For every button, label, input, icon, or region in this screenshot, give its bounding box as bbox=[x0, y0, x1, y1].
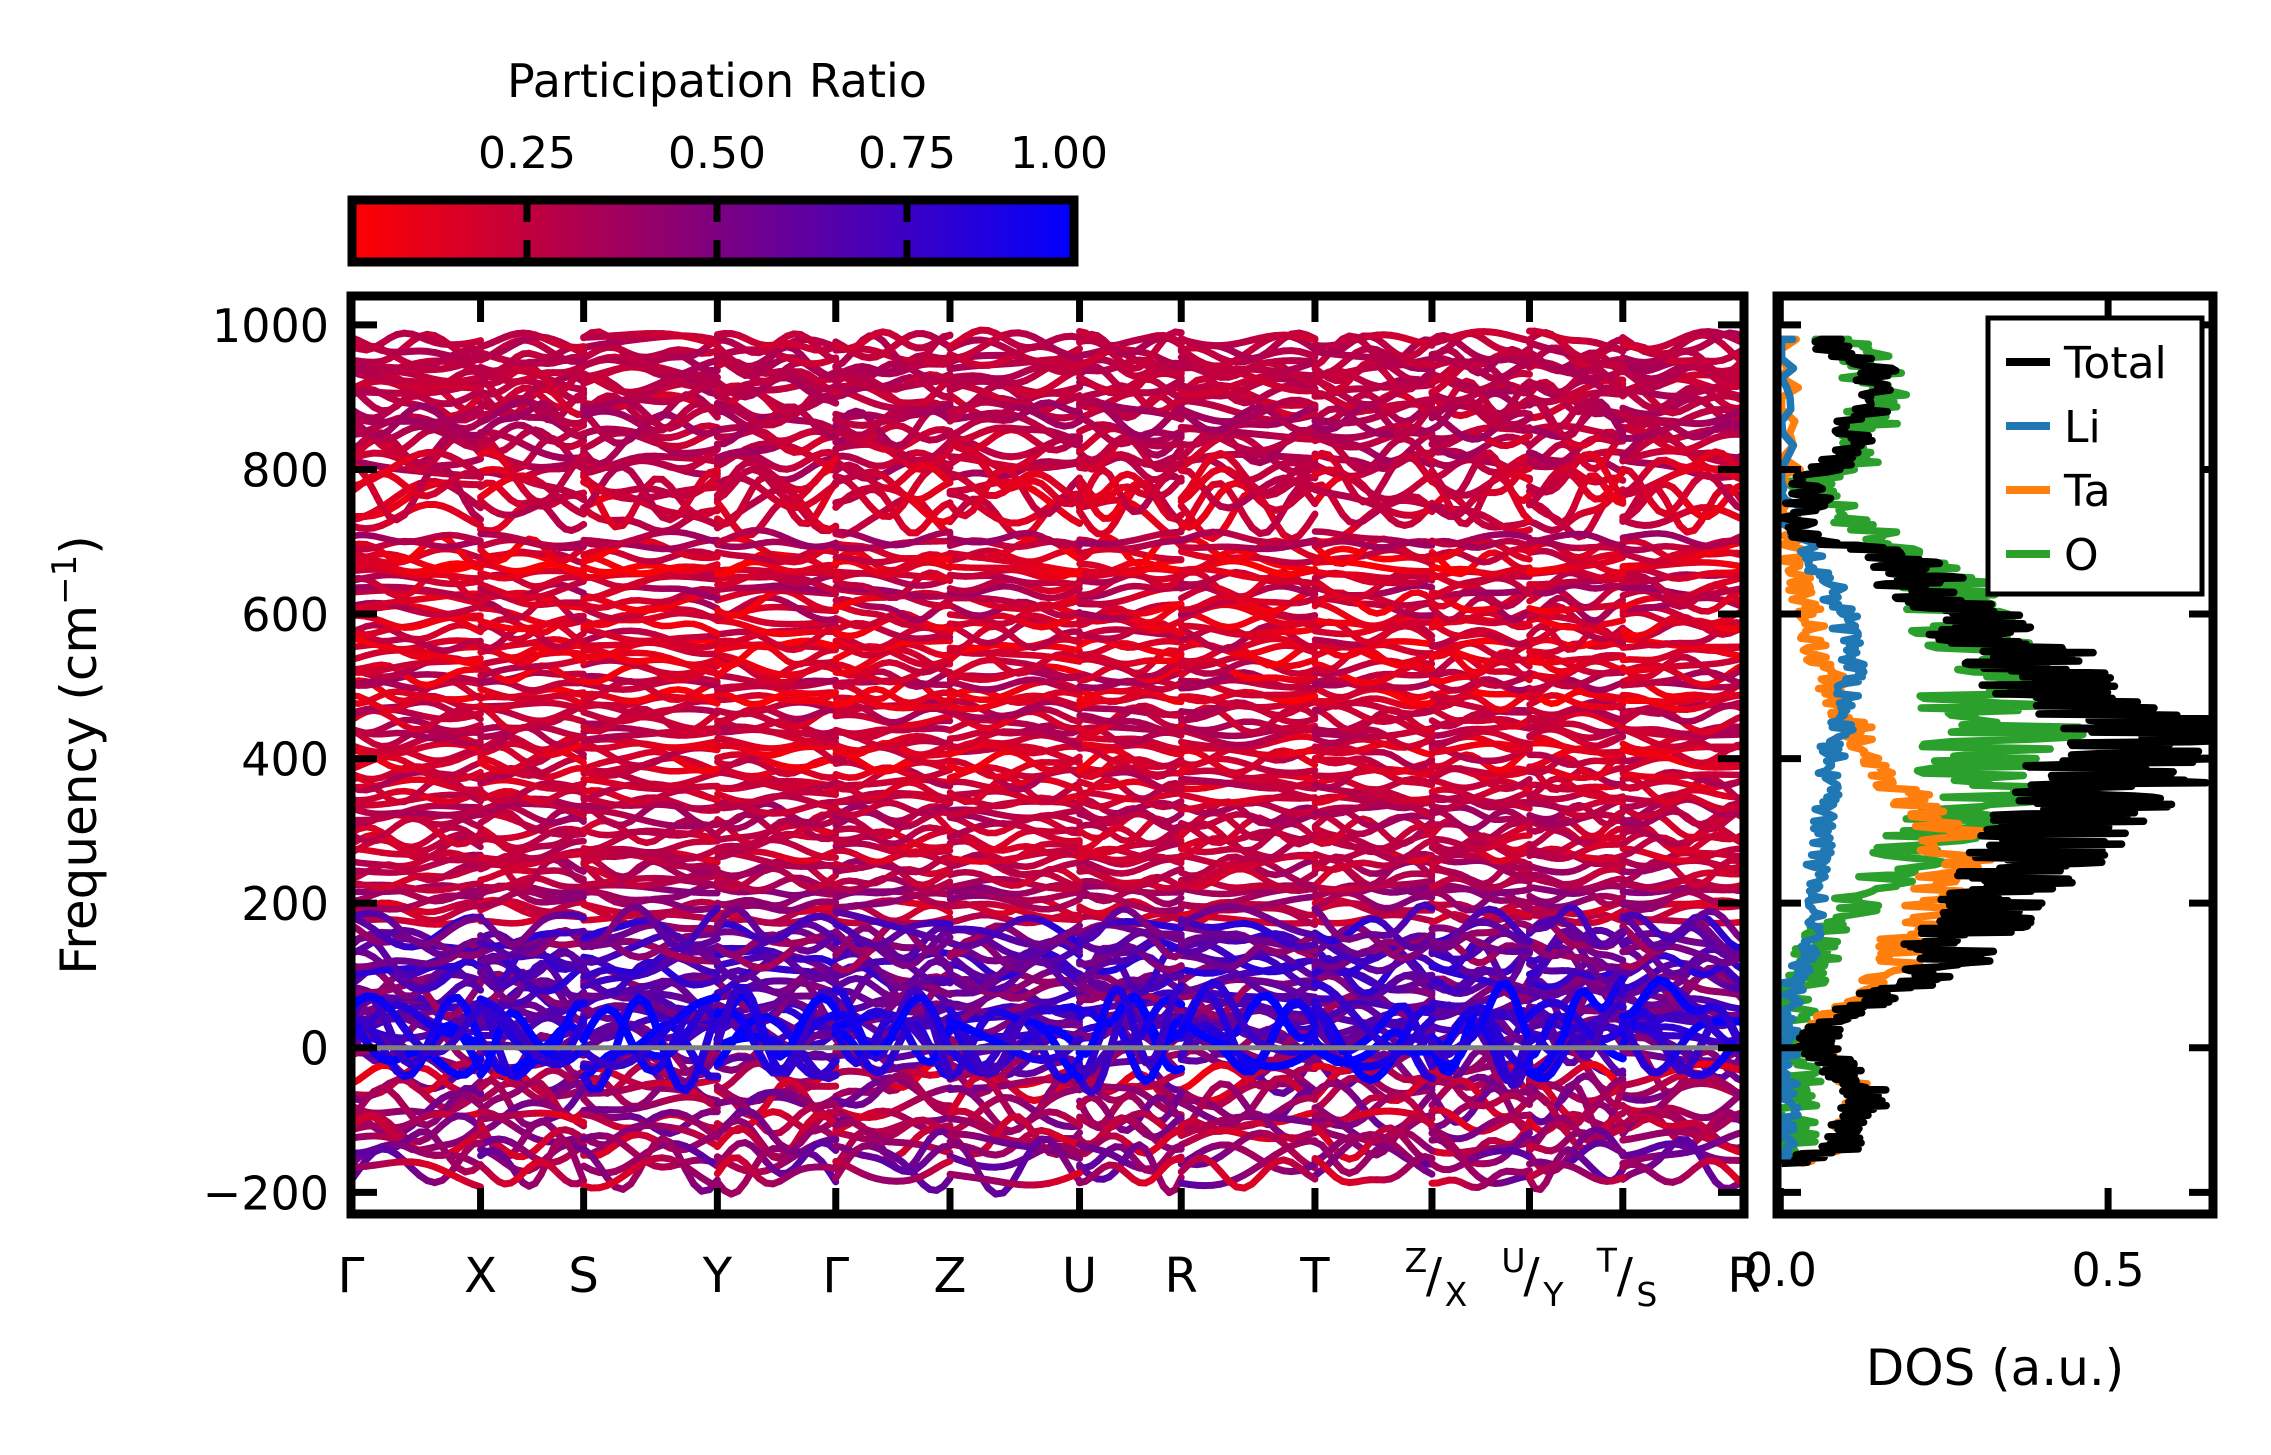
band-branch-segment bbox=[1175, 372, 1181, 373]
band-branch-segment bbox=[1072, 349, 1080, 353]
band-branch-segment bbox=[1072, 370, 1080, 372]
band-branch-segment bbox=[829, 357, 836, 360]
band-branch-segment bbox=[578, 422, 584, 423]
band-branch-segment bbox=[943, 335, 950, 338]
band-branch-segment bbox=[1425, 385, 1432, 386]
band-branch-segment bbox=[473, 341, 481, 343]
band-branch-segment bbox=[1072, 336, 1080, 337]
band-branch-segment bbox=[1617, 385, 1622, 388]
band-branch-segment bbox=[1072, 438, 1080, 440]
band-branch-segment bbox=[829, 400, 836, 403]
band-branch-segment bbox=[709, 431, 717, 434]
band-branch-segment bbox=[1072, 411, 1080, 412]
band-branch-segment bbox=[829, 387, 836, 389]
band-branch-segment bbox=[1524, 413, 1530, 414]
band-branch-segment bbox=[1307, 381, 1315, 382]
band-branch-segment bbox=[1072, 357, 1080, 358]
colorbar-tick-label: 0.25 bbox=[478, 128, 576, 179]
colorbar-tick-label: 0.50 bbox=[668, 128, 766, 179]
colorbar-tick-label: 1.00 bbox=[1010, 128, 1108, 179]
band-branch-segment bbox=[1175, 332, 1181, 333]
band-branch-segment bbox=[1617, 365, 1622, 366]
band-branch-segment bbox=[943, 396, 950, 397]
band-branch-segment bbox=[578, 360, 584, 361]
band-branch-segment bbox=[1524, 436, 1530, 439]
band-branch-segment bbox=[829, 452, 836, 453]
band-branch-segment bbox=[578, 398, 584, 400]
band-branch-segment bbox=[1617, 349, 1622, 350]
band-branch-segment bbox=[709, 383, 717, 385]
colorbar-tick-label: 0.75 bbox=[858, 128, 956, 179]
colorbar-group: Participation Ratio 0.25 0.50 0.75 1.00 bbox=[352, 54, 1108, 262]
band-branch-segment bbox=[1307, 390, 1315, 391]
band-branch-segment bbox=[1524, 392, 1530, 393]
band-branch-segment bbox=[1617, 369, 1622, 371]
band-branch-segment bbox=[1524, 418, 1530, 422]
band-branch-segment bbox=[709, 377, 717, 378]
band-branch-segment bbox=[1072, 421, 1080, 425]
band-branch-segment bbox=[578, 441, 584, 445]
band-branch-segment bbox=[578, 389, 584, 390]
band-branch-segment bbox=[709, 342, 717, 344]
band-branch-segment bbox=[943, 375, 950, 378]
colorbar-gradient[interactable] bbox=[352, 200, 1074, 262]
band-branch-segment bbox=[578, 434, 584, 436]
band-branch-segment bbox=[1425, 455, 1432, 462]
band-branch-segment bbox=[943, 405, 950, 408]
band-branch-segment bbox=[578, 465, 584, 468]
figure-root: Participation Ratio 0.25 0.50 0.75 1.00 bbox=[0, 0, 2271, 1455]
band-branch-segment bbox=[1072, 387, 1080, 389]
band-branch-segment bbox=[709, 448, 717, 450]
band-branch-segment bbox=[1425, 400, 1432, 401]
band-branch-segment bbox=[1307, 514, 1315, 526]
band-branch-segment bbox=[578, 524, 584, 528]
band-curves-layer bbox=[351, 330, 1744, 1194]
band-branch-segment bbox=[473, 459, 481, 461]
band-branch-segment bbox=[1524, 339, 1530, 340]
band-branch-segment bbox=[1072, 444, 1080, 446]
figure-canvas: Participation Ratio 0.25 0.50 0.75 1.00 bbox=[0, 0, 2271, 1455]
band-branch-segment bbox=[578, 347, 584, 348]
band-branch-segment bbox=[1524, 429, 1530, 430]
colorbar-title: Participation Ratio bbox=[507, 54, 927, 108]
band-branch-segment bbox=[1617, 426, 1622, 434]
band-structure-panel[interactable]: 10008006004002000−200 ΓXSYΓZURTZ/XU/YT/S… bbox=[45, 296, 1761, 1314]
band-branch-segment bbox=[1524, 373, 1530, 374]
colorbar-tick-labels: 0.25 0.50 0.75 1.00 bbox=[478, 128, 1108, 179]
band-branch-segment bbox=[1175, 417, 1181, 419]
band-branch-segment bbox=[1307, 402, 1315, 406]
band-branch-segment bbox=[473, 408, 481, 411]
band-branch-segment bbox=[1307, 338, 1315, 340]
band-branch-segment bbox=[709, 351, 717, 353]
